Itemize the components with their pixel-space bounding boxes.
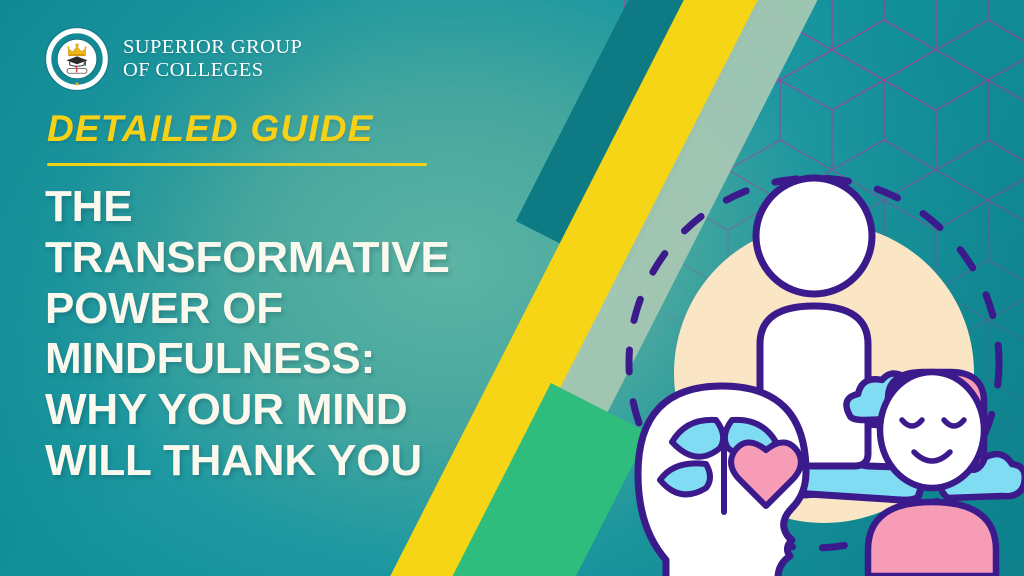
headline-line-1: THE (45, 182, 545, 233)
headline-line-3: POWER OF (45, 284, 545, 335)
headline-line-2: TRANSFORMATIVE (45, 233, 545, 284)
headline-line-6: WILL THANK YOU (45, 436, 545, 487)
mindfulness-illustration (614, 158, 1024, 576)
page-title: THE TRANSFORMATIVE POWER OF MINDFULNESS:… (45, 182, 545, 487)
eyebrow-label: DETAILED GUIDE (47, 108, 374, 150)
banner-canvas: SUPERIOR GROUP OF COLLEGES (0, 0, 1024, 576)
headline-line-5: WHY YOUR MIND (45, 385, 545, 436)
brand-name-line-1: SUPERIOR GROUP (123, 36, 302, 59)
headline-line-4: MINDFULNESS: (45, 334, 545, 385)
brand-name-line-2: OF COLLEGES (123, 59, 302, 82)
eyebrow-underline (47, 163, 427, 166)
head-profile-with-plant-and-heart-icon (638, 386, 806, 576)
brand-logo-lockup[interactable]: SUPERIOR GROUP OF COLLEGES (44, 26, 302, 92)
brand-name: SUPERIOR GROUP OF COLLEGES (123, 36, 302, 82)
superior-group-of-colleges-crest-icon: SUPERIOR GROUP OF COLLEGES (44, 26, 110, 92)
